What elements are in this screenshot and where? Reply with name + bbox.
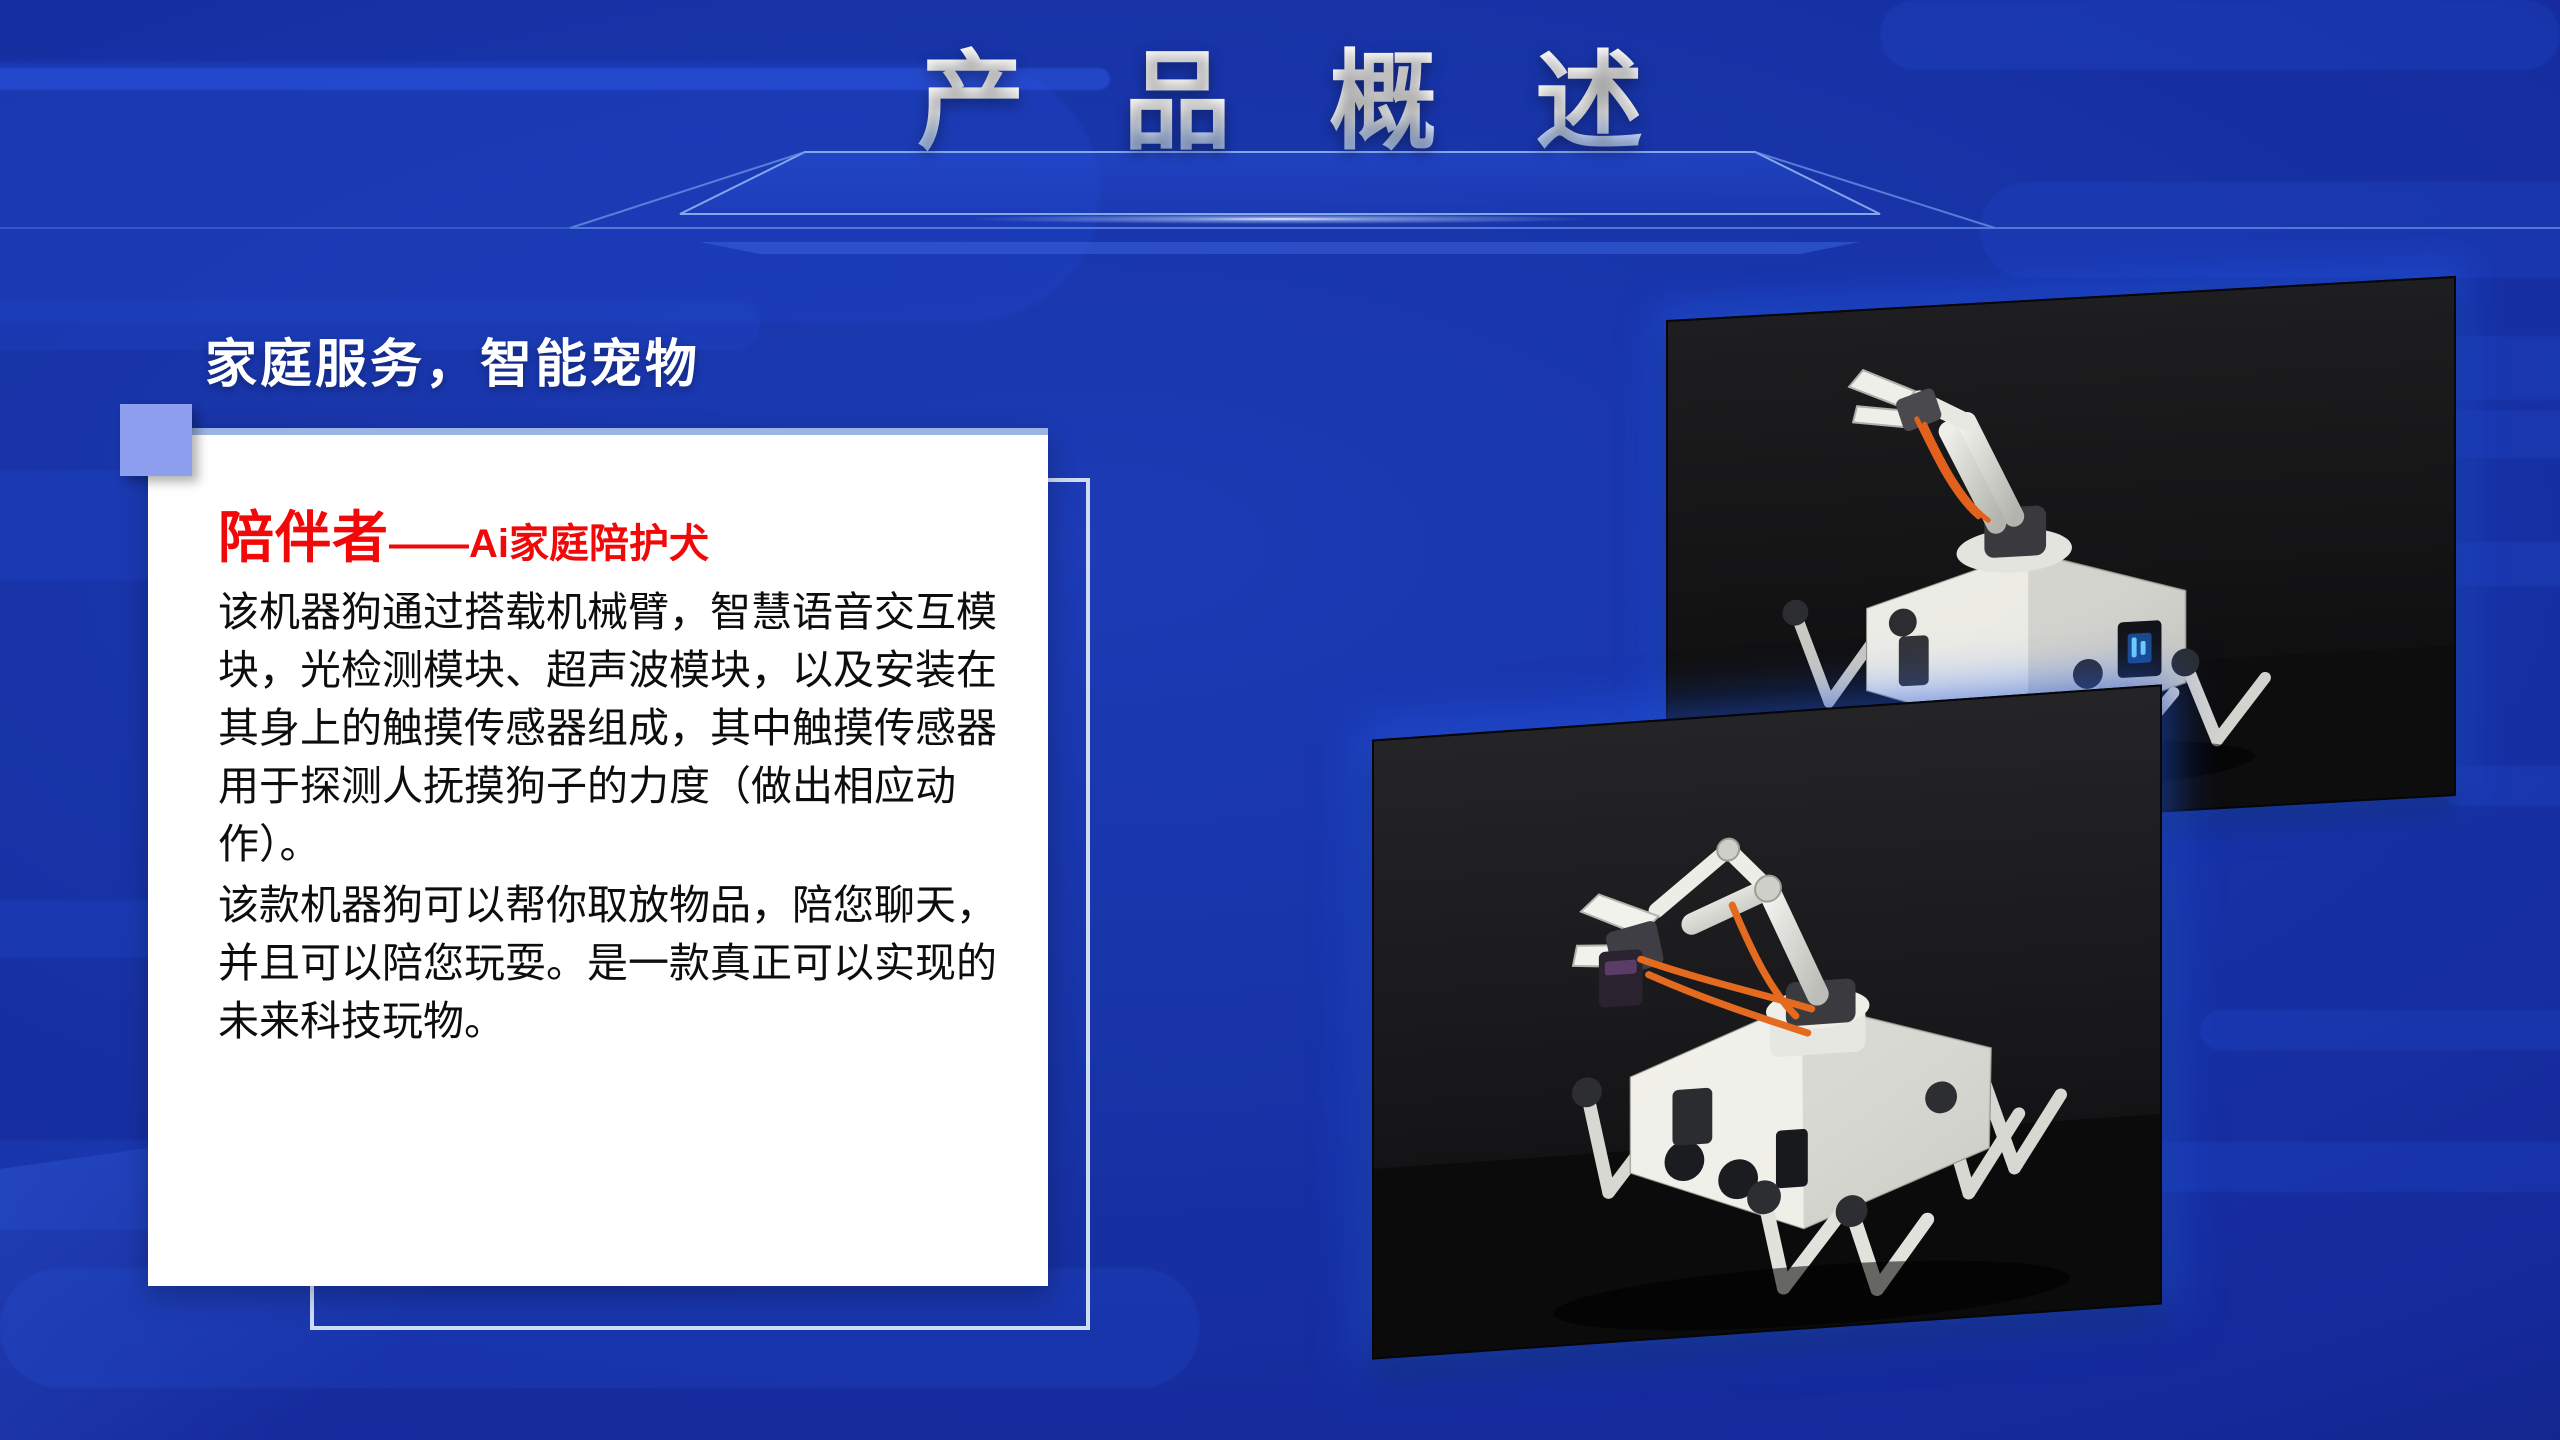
bg-bar-10 bbox=[2442, 542, 2560, 586]
page-title: 产 品 概 述 bbox=[0, 42, 2560, 163]
card-paragraph-2: 该款机器狗可以帮你取放物品，陪您聊天，并且可以陪您玩耍。是一款真正可以实现的未来… bbox=[218, 876, 1004, 1051]
bg-bar-13 bbox=[2200, 1010, 2560, 1050]
section-heading: 家庭服务，智能宠物 bbox=[205, 322, 700, 397]
robot-dog-photo-front bbox=[1372, 684, 2162, 1359]
card-title-main: 陪伴者 bbox=[218, 506, 389, 569]
card-title-sub: ——Ai家庭陪护犬 bbox=[389, 522, 709, 566]
title-perspective-decoration bbox=[0, 150, 2560, 270]
slide-canvas: 产 品 概 述 家庭服务，智能宠物 陪伴者——Ai家庭陪护犬 该机器狗通过搭载机… bbox=[0, 0, 2560, 1440]
card-paragraph-1: 该机器狗通过搭载机械臂，智慧语音交互模块，光检测模块、超声波模块，以及安装在其身… bbox=[218, 583, 1004, 874]
title-glow-accent bbox=[970, 214, 1590, 224]
page-title-text: 产 品 概 述 bbox=[883, 42, 1677, 163]
bg-bar-12 bbox=[2120, 1142, 2560, 1192]
content-card: 陪伴者——Ai家庭陪护犬 该机器狗通过搭载机械臂，智慧语音交互模块，光检测模块、… bbox=[148, 428, 1048, 1286]
accent-square-decoration bbox=[120, 404, 192, 476]
robot-dog-illustration-front bbox=[1374, 687, 2160, 1358]
bg-bar-11 bbox=[2442, 766, 2560, 806]
card-title: 陪伴者——Ai家庭陪护犬 bbox=[218, 507, 1004, 569]
